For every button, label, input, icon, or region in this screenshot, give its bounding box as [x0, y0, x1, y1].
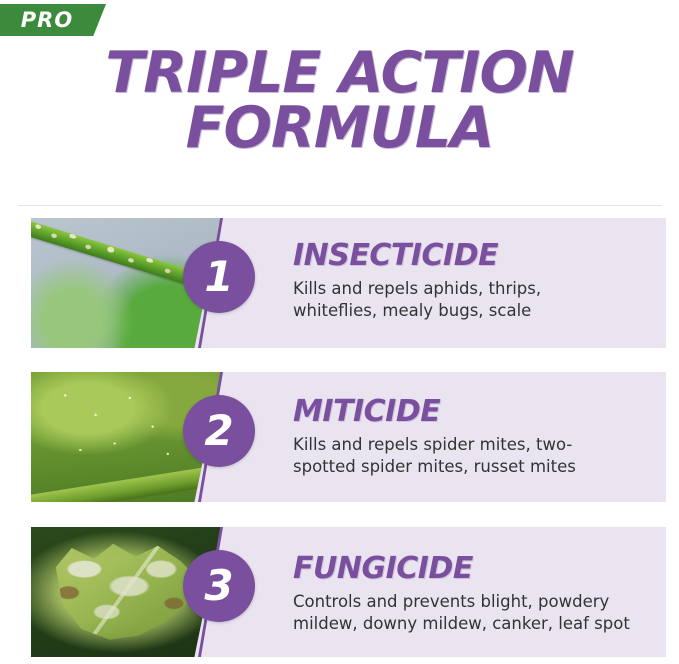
- page-title: TRIPLE ACTION FORMULA: [0, 46, 679, 157]
- feature-description-line-2: spotted spider mites, russet mites: [293, 456, 653, 479]
- page-title-line-1: TRIPLE ACTION: [0, 46, 679, 101]
- feature-content: MITICIDE Kills and repels spider mites, …: [293, 396, 653, 479]
- page-title-line-2: FORMULA: [0, 101, 679, 156]
- feature-row-insecticide: 1 INSECTICIDE Kills and repels aphids, t…: [31, 218, 666, 348]
- feature-description-line-1: Controls and prevents blight, powdery: [293, 591, 653, 614]
- feature-title-insecticide: INSECTICIDE: [293, 240, 653, 272]
- feature-description-line-1: Kills and repels spider mites, two-: [293, 434, 653, 457]
- pro-badge-label: PRO: [0, 4, 94, 36]
- feature-title-miticide: MITICIDE: [293, 396, 653, 428]
- feature-row-fungicide: 3 FUNGICIDE Controls and prevents blight…: [31, 527, 666, 657]
- feature-number-badge-3: 3: [183, 550, 255, 622]
- feature-description-line-2: mildew, downy mildew, canker, leaf spot: [293, 613, 653, 636]
- feature-content: INSECTICIDE Kills and repels aphids, thr…: [293, 240, 653, 323]
- divider-top: [18, 205, 662, 206]
- feature-number-badge-2: 2: [183, 395, 255, 467]
- feature-description-line-1: Kills and repels aphids, thrips,: [293, 278, 653, 301]
- feature-number-badge-1: 1: [183, 241, 255, 313]
- feature-content: FUNGICIDE Controls and prevents blight, …: [293, 553, 653, 636]
- feature-title-fungicide: FUNGICIDE: [293, 553, 653, 585]
- feature-row-miticide: 2 MITICIDE Kills and repels spider mites…: [31, 372, 666, 502]
- feature-description-line-2: whiteflies, mealy bugs, scale: [293, 300, 653, 323]
- pro-badge: PRO: [0, 4, 106, 36]
